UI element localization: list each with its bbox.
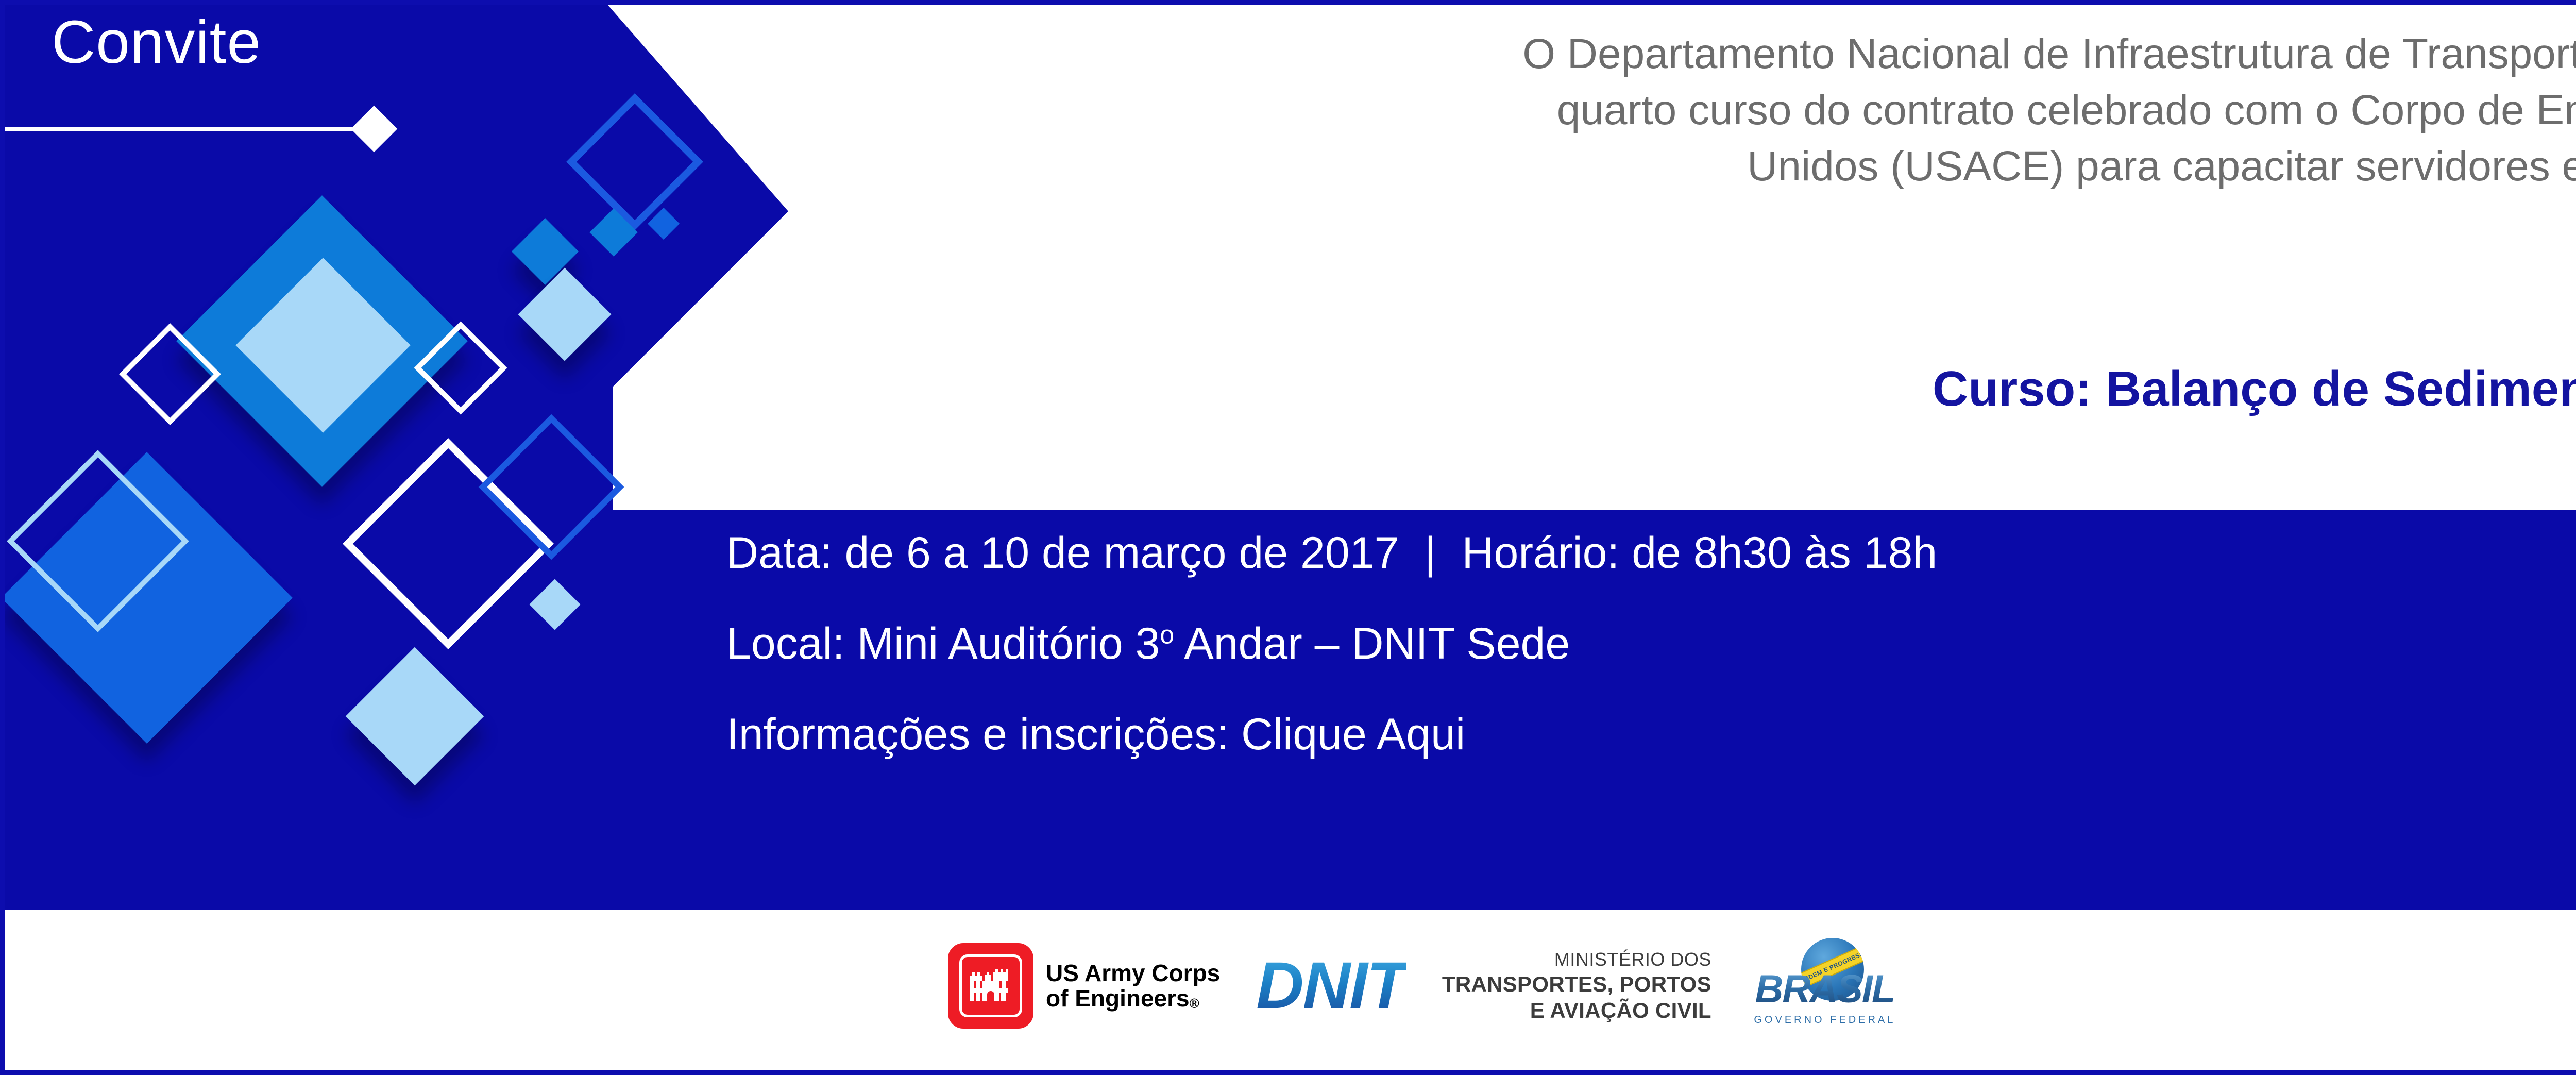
info-label: Informações e inscrições: (726, 710, 1229, 759)
details-text-block: Data: de 6 a 10 de março de 2017 | Horár… (726, 531, 1937, 757)
usace-castle-icon (948, 943, 1033, 1029)
detail-row-place: Local: Mini Auditório 3o Andar – DNIT Se… (726, 622, 1937, 666)
intro-paragraph: O Departamento Nacional de Infraestrutur… (850, 26, 2576, 194)
footer-bar: US Army Corps of Engineers® DNIT MINISTÉ… (5, 910, 2576, 1075)
eyebrow-block: Convite (52, 9, 443, 76)
usace-logo: US Army Corps of Engineers® (948, 943, 1220, 1029)
eyebrow-rule (5, 127, 366, 131)
usace-wordmark: US Army Corps of Engineers® (1046, 961, 1220, 1011)
ministry-logo: MINISTÉRIO DOS TRANSPORTES, PORTOS E AVI… (1442, 948, 1711, 1023)
brasil-gov-logo: ORDEM E PROGRESSO BRASIL GOVERNO FEDERAL (1748, 937, 1902, 1035)
place-value-cont: Andar – DNIT Sede (1174, 619, 1570, 668)
place-value: Mini Auditório 3 (857, 619, 1160, 668)
castle-glyph (968, 966, 1014, 1007)
ministry-line-2: TRANSPORTES, PORTOS (1442, 971, 1711, 997)
dnit-logo: DNIT (1256, 953, 1406, 1019)
usace-line-2: of Engineers (1046, 985, 1190, 1012)
detail-separator: | (1411, 531, 1449, 575)
intro-line-3: Unidos (USACE) para capacitar servidores… (850, 138, 2576, 194)
intro-line-2: quarto curso do contrato celebrado com o… (850, 82, 2576, 138)
place-ordinal: o (1160, 620, 1174, 649)
brasil-wordmark: BRASIL (1748, 970, 1902, 1009)
time-value: de 8h30 às 18h (1632, 528, 1937, 578)
page-title: Convite (52, 9, 443, 76)
brasil-subtitle: GOVERNO FEDERAL (1748, 1014, 1902, 1026)
detail-row-date: Data: de 6 a 10 de março de 2017 | Horár… (726, 531, 1937, 575)
footer-logo-row: US Army Corps of Engineers® DNIT MINISTÉ… (948, 916, 2391, 1055)
registered-mark: ® (1190, 996, 1199, 1011)
detail-row-info: Informações e inscrições: Clique Aqui (726, 712, 1937, 757)
place-label: Local: (726, 619, 845, 668)
course-title: Curso: Balanço de Sedimentos e Geomorfol… (850, 361, 2576, 417)
invitation-banner: Convite O Departamento Nacional de Infra… (0, 0, 2576, 1075)
time-label: Horário: (1462, 528, 1619, 578)
date-label: Data: (726, 528, 833, 578)
usace-line-1: US Army Corps (1046, 961, 1220, 986)
date-value: de 6 a 10 de março de 2017 (844, 528, 1399, 578)
registration-link[interactable]: Clique Aqui (1241, 710, 1465, 759)
ministry-line-3: E AVIAÇÃO CIVIL (1442, 997, 1711, 1023)
ministry-line-1: MINISTÉRIO DOS (1442, 948, 1711, 971)
intro-line-1: O Departamento Nacional de Infraestrutur… (850, 26, 2576, 82)
usace-line-2-wrap: of Engineers® (1046, 986, 1220, 1011)
